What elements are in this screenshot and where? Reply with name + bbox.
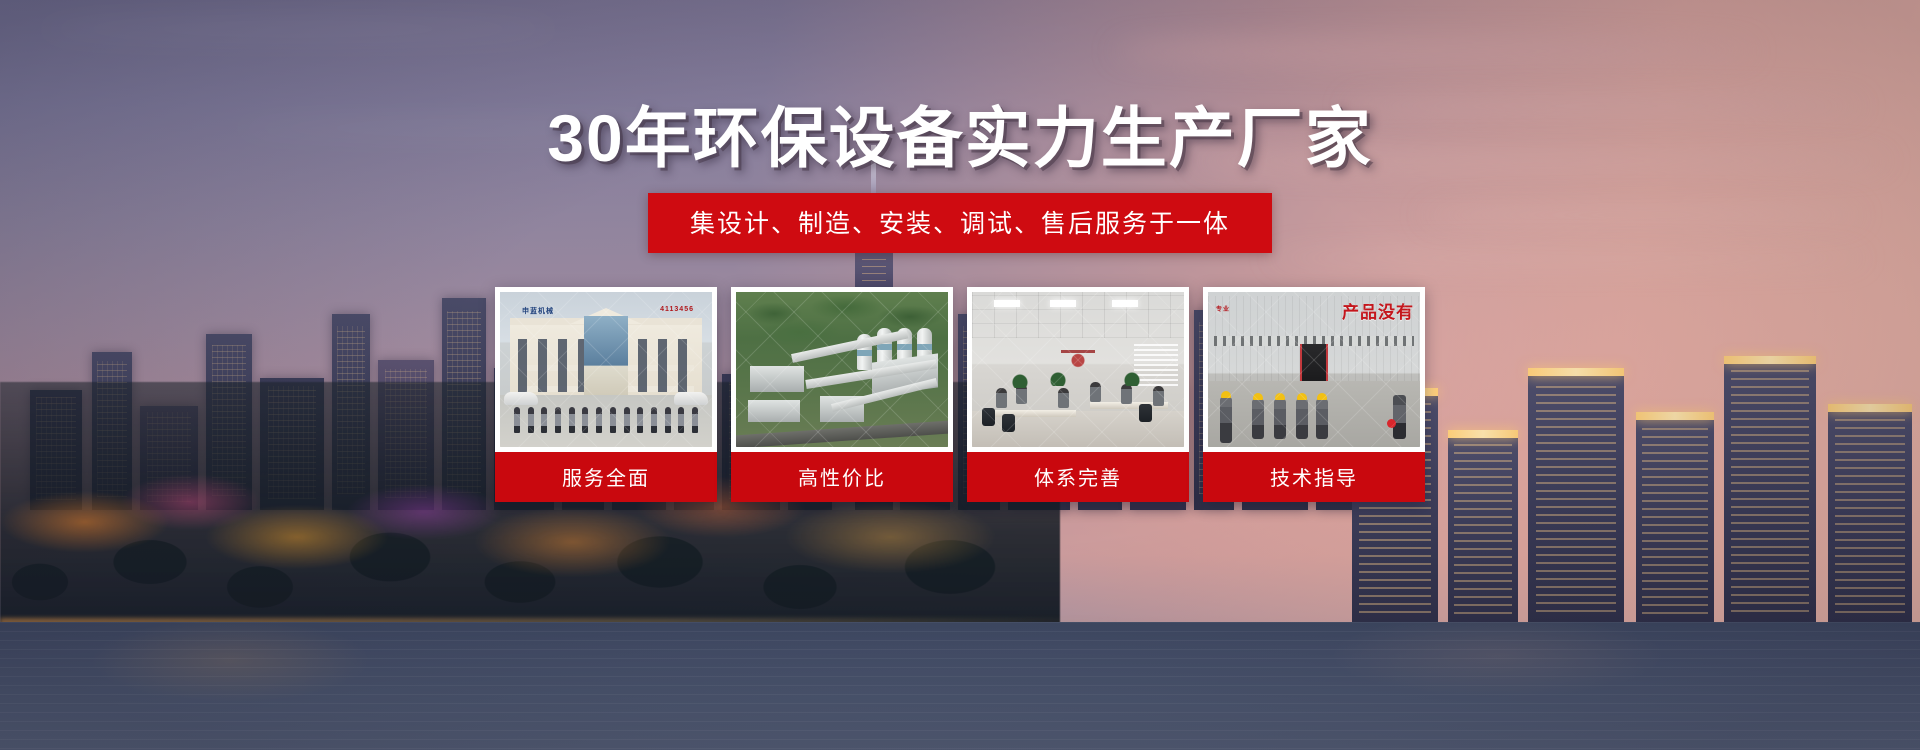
ceiling-light (1050, 300, 1076, 307)
person (1153, 386, 1164, 406)
feature-card[interactable]: 申蓝机械 4113456 服务全面 (495, 287, 717, 502)
person (996, 388, 1007, 408)
card-label: 服务全面 (495, 452, 717, 502)
card-thumbnail-company-building: 申蓝机械 4113456 (500, 292, 712, 447)
person (1121, 384, 1132, 404)
potted-plant (1012, 374, 1028, 388)
potted-plant (1050, 372, 1066, 386)
potted-plant (1124, 372, 1140, 386)
subtitle-banner: 集设计、制造、安装、调试、售后服务于一体 (648, 193, 1272, 253)
card-label: 体系完善 (967, 452, 1189, 502)
hero-banner: 30年环保设备实力生产厂家 集设计、制造、安装、调试、售后服务于一体 申蓝机械 … (0, 0, 1920, 750)
chair (982, 408, 995, 426)
ceiling (972, 292, 1184, 338)
plant-shed (750, 366, 804, 392)
person (1058, 388, 1069, 408)
feature-card-list: 申蓝机械 4113456 服务全面 (495, 287, 1425, 502)
chair (1002, 414, 1015, 432)
banner-content: 30年环保设备实力生产厂家 集设计、制造、安装、调试、售后服务于一体 申蓝机械 … (0, 0, 1920, 750)
card-thumbnail-office-interior (972, 292, 1184, 447)
factory-yard (1208, 381, 1420, 447)
page-title: 30年环保设备实力生产厂家 (547, 105, 1372, 171)
card-label: 技术指导 (1203, 452, 1425, 502)
worker (1296, 399, 1308, 439)
feature-card[interactable]: 产品没有 专业 技术指导 (1203, 287, 1425, 502)
wall-logo (1061, 350, 1095, 376)
ceiling-light (994, 300, 1020, 307)
feature-card[interactable]: 体系完善 (967, 287, 1189, 502)
feature-card[interactable]: 高性价比 (731, 287, 953, 502)
company-phone-text: 4113456 (660, 306, 694, 313)
factory-sign-side: 专业 (1216, 306, 1230, 314)
staff-row (514, 403, 698, 433)
ceiling-light (1112, 300, 1138, 307)
card-label: 高性价比 (731, 452, 953, 502)
worker (1274, 399, 1286, 439)
company-sign-text: 申蓝机械 (522, 306, 554, 316)
person (1090, 382, 1101, 402)
window-blinds (1134, 344, 1178, 386)
factory-door (1300, 344, 1328, 384)
chair (1139, 404, 1152, 422)
worker (1252, 399, 1264, 439)
worker (1316, 399, 1328, 439)
worker (1220, 397, 1232, 443)
card-thumbnail-factory-workers: 产品没有 专业 (1208, 292, 1420, 447)
card-thumbnail-industrial-plant (736, 292, 948, 447)
supervisor (1393, 395, 1406, 439)
factory-sign-main: 产品没有 (1342, 298, 1414, 323)
plant-shed (748, 400, 800, 422)
building-entrance (584, 316, 628, 398)
